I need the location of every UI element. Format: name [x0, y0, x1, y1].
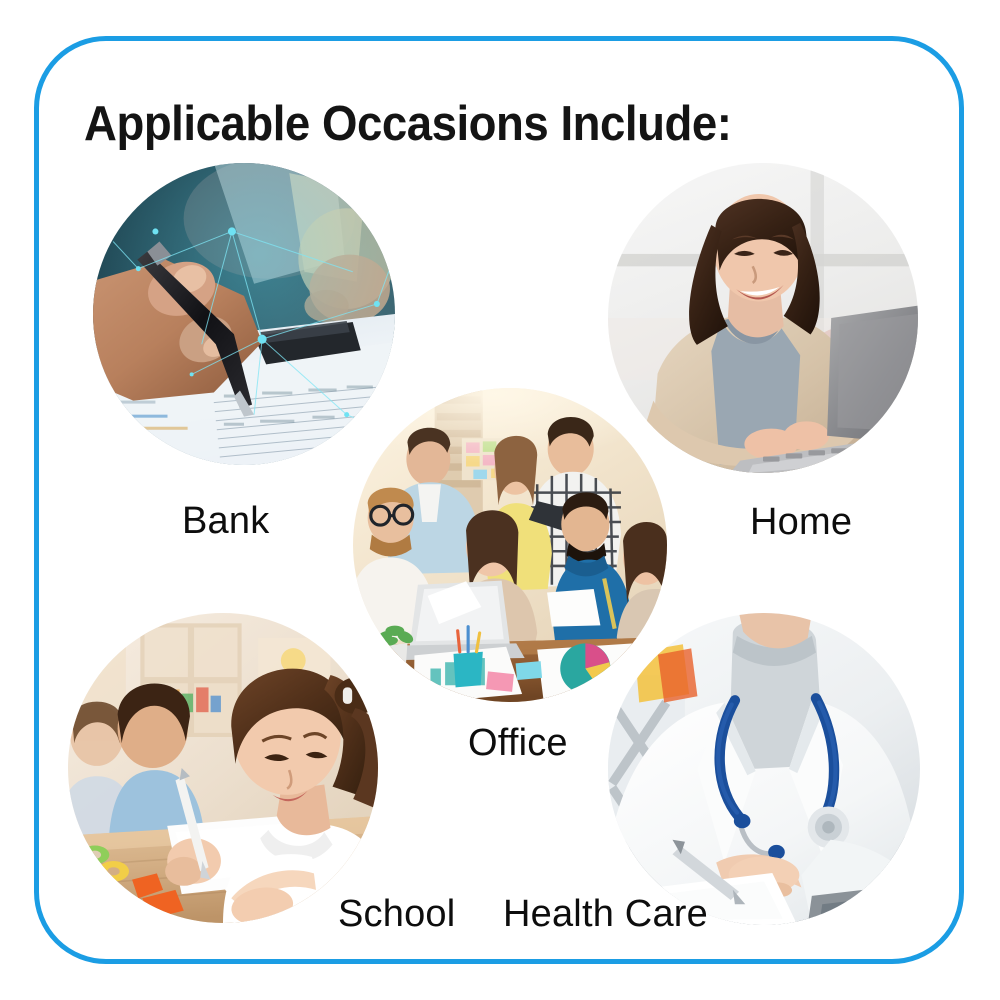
page-title: Applicable Occasions Include:: [84, 96, 731, 152]
occasion-photo-home: [608, 163, 918, 473]
infographic-canvas: Applicable Occasions Include:: [0, 0, 1000, 1000]
occasion-photo-health-care: [608, 613, 920, 925]
occasion-photo-office: [353, 388, 667, 702]
occasion-label-office: Office: [468, 722, 568, 765]
occasion-photo-bank: [93, 163, 395, 465]
occasion-photo-school: [68, 613, 378, 923]
occasion-label-bank: Bank: [182, 500, 269, 543]
occasion-label-home: Home: [750, 501, 852, 544]
occasion-label-health-care: Health Care: [503, 893, 708, 936]
occasion-label-school: School: [338, 893, 455, 936]
